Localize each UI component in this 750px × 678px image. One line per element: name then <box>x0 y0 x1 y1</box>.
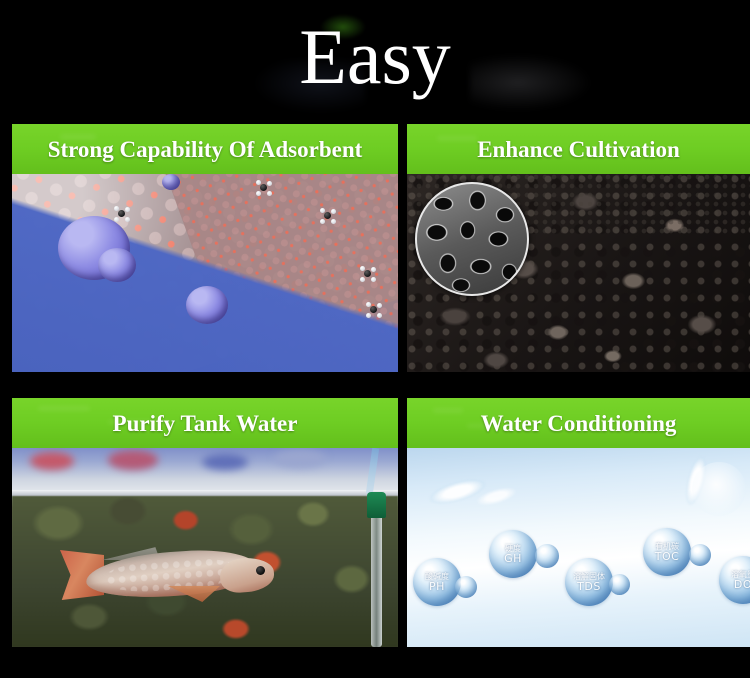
bubble-toc: 有机碳 TOC <box>643 528 691 576</box>
media-water-parameter-bubbles-graphic: 酸碱度 PH 硬度 GH 溶解固体 TDS 有机碳 TOC 溶氧量 DO <box>407 448 750 647</box>
free-molecule-1 <box>118 210 125 217</box>
card-water-conditioning: Water Conditioning 酸碱度 PH 硬度 GH 溶解固体 TDS <box>407 398 750 647</box>
adsorbed-molecule-cluster-edge <box>162 174 180 190</box>
arowana-fish <box>60 546 275 602</box>
wall-blotch <box>274 450 326 468</box>
wall-blotch <box>30 452 74 470</box>
card-header-adsorbent: Strong Capability Of Adsorbent <box>12 124 398 174</box>
bubble-label-abbr: TOC <box>655 551 680 563</box>
bubble-label-abbr: GH <box>504 553 522 565</box>
card-title-adsorbent: Strong Capability Of Adsorbent <box>48 137 363 162</box>
card-title-water-conditioning: Water Conditioning <box>481 411 677 436</box>
card-header-cultivation: Enhance Cultivation <box>407 124 750 174</box>
card-purify-tank-water: Purify Tank Water <box>12 398 398 647</box>
free-molecule-2 <box>260 184 267 191</box>
free-molecule-5 <box>370 306 377 313</box>
header-ghost-mark <box>437 136 477 141</box>
free-molecule-3 <box>324 212 331 219</box>
bubble-label-abbr: TDS <box>577 581 601 593</box>
tank-filter-tube-cap <box>367 492 386 518</box>
media-activated-carbon-granules-photo <box>407 174 750 372</box>
card-strong-capability-of-adsorbent: Strong Capability Of Adsorbent <box>12 124 398 372</box>
title-bar: Easy <box>0 0 750 112</box>
water-light-glow <box>692 462 746 516</box>
tank-background-wall <box>12 448 398 492</box>
bubble-do: 溶氧量 DO <box>719 556 750 604</box>
wall-blotch <box>108 450 158 470</box>
promo-banner: Easy Strong Capability Of Adsorbent <box>0 0 750 678</box>
bubble-label-abbr: DO <box>734 579 750 591</box>
card-title-cultivation: Enhance Cultivation <box>477 137 680 162</box>
bubble-gh-satellite <box>535 544 559 568</box>
wall-blotch <box>202 454 248 470</box>
card-enhance-cultivation: Enhance Cultivation <box>407 124 750 372</box>
bubble-gh: 硬度 GH <box>489 530 537 578</box>
card-title-purify: Purify Tank Water <box>113 411 298 436</box>
adsorbed-molecule-cluster-small <box>186 286 228 324</box>
bubble-ph-satellite <box>455 576 477 598</box>
header-ghost-mark <box>433 408 463 413</box>
bubble-ph: 酸碱度 PH <box>413 558 461 606</box>
card-header-purify: Purify Tank Water <box>12 398 398 448</box>
adsorbed-molecule-cluster-mid <box>98 248 136 282</box>
bubble-label-abbr: PH <box>429 581 445 593</box>
media-molecular-adsorption-render <box>12 174 398 372</box>
page-title: Easy <box>0 16 750 98</box>
media-aquarium-arowana-photo <box>12 448 398 647</box>
free-molecule-4 <box>364 270 371 277</box>
bubble-tds: 溶解固体 TDS <box>565 558 613 606</box>
header-ghost-mark <box>38 406 90 411</box>
sem-pore-magnifier-icon <box>415 182 529 296</box>
bubble-tds-satellite <box>609 574 630 595</box>
fish-eye <box>256 566 265 575</box>
card-header-water-conditioning: Water Conditioning <box>407 398 750 448</box>
bubble-toc-satellite <box>689 544 711 566</box>
